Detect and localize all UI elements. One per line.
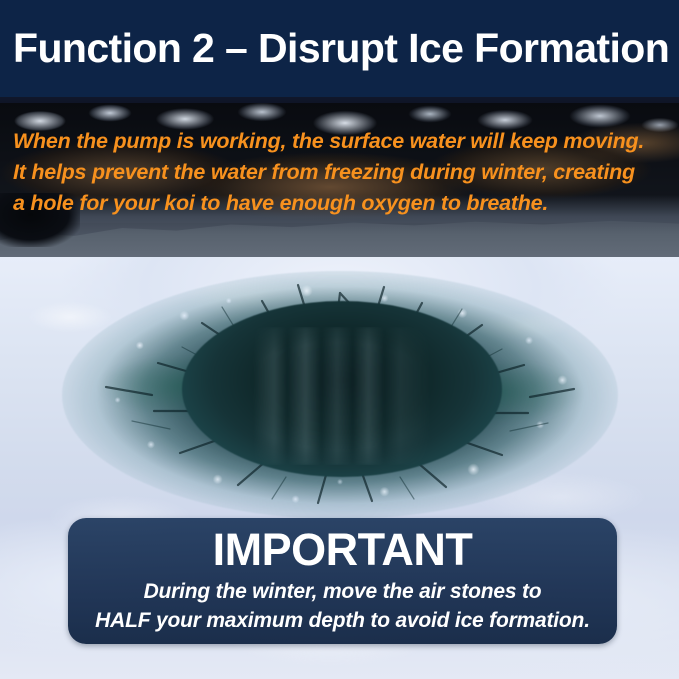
infographic-root: Function 2 – Disrupt Ice Formation When … — [0, 0, 679, 679]
water-reflection — [206, 327, 468, 465]
header-band: Function 2 – Disrupt Ice Formation — [0, 0, 679, 97]
important-line-1: During the winter, move the air stones t… — [78, 577, 607, 606]
snowy-pond-edge-photo: When the pump is working, the surface wa… — [0, 97, 679, 257]
important-line-2: HALF your maximum depth to avoid ice for… — [78, 606, 607, 635]
description-text: When the pump is working, the surface wa… — [13, 126, 673, 219]
important-body: During the winter, move the air stones t… — [78, 577, 607, 635]
important-heading: IMPORTANT — [78, 524, 607, 576]
description-line-1: When the pump is working, the surface wa… — [13, 126, 673, 157]
description-line-2: It helps prevent the water from freezing… — [13, 157, 673, 188]
description-line-3: a hole for your koi to have enough oxyge… — [13, 188, 673, 219]
important-callout: IMPORTANT During the winter, move the ai… — [68, 518, 617, 644]
page-title: Function 2 – Disrupt Ice Formation — [13, 28, 669, 69]
